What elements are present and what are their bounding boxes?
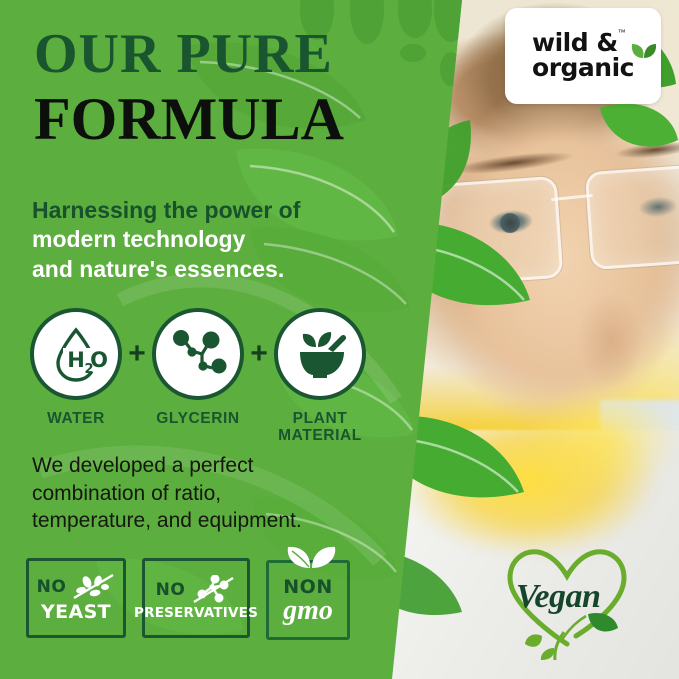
subtitle-line-1: Harnessing the power of [32,196,392,225]
subtitle-line-3: and nature's essences. [32,255,392,284]
headline-line-2: FORMULA [34,88,434,151]
paragraph-line-1: We developed a perfect [32,452,392,480]
molecule-icon [162,318,234,390]
paragraph-line-2: combination of ratio, [32,480,392,508]
headline-block: OUR PURE FORMULA [34,26,434,151]
ingredient-label-water: WATER [30,410,122,445]
ingredients-section: H 2 O + [30,308,380,445]
vegan-label: Vegan [516,578,600,616]
ingredient-label-plant-material: PLANT MATERIAL [274,410,366,445]
brand-logo[interactable]: wild & ™ organic [505,8,661,104]
subtitle-line-2: modern technology [32,225,392,254]
no-yeast-prefix: NO [37,577,67,597]
ingredient-label-glycerin: GLYCERIN [152,410,244,445]
paragraph-line-3: temperature, and equipment. [32,507,392,535]
leaves-icon [280,542,340,572]
leaf-icon [630,40,656,60]
headline-line-1: OUR PURE [34,26,434,82]
promotional-banner: OUR PURE FORMULA Harnessing the power of… [0,0,679,679]
subtitle-block: Harnessing the power of modern technolog… [32,196,392,284]
crossed-out-molecule-icon [190,575,236,605]
certification-badges: NO YEAST [26,558,366,640]
trademark-symbol: ™ [618,28,626,37]
description-paragraph: We developed a perfect combination of ra… [32,452,392,535]
no-yeast-label: YEAST [41,601,111,623]
water-icon-circle: H 2 O [30,308,122,400]
water-drop-icon: H 2 O [41,319,111,389]
crossed-out-yeast-icon [71,573,115,601]
logo-line-2: organic [532,53,634,82]
vegan-badge: Vegan [492,540,642,660]
no-preservatives-prefix: NO [156,580,186,600]
mortar-pestle-icon [285,319,355,389]
plant-material-icon-circle [274,308,366,400]
no-preservatives-label: PRESERVATIVES [134,605,258,621]
no-yeast-badge: NO YEAST [26,558,126,638]
no-preservatives-badge: NO [142,558,250,638]
non-gmo-label: gmo [283,598,333,623]
plus-separator-2: + [245,339,273,369]
plus-separator-1: + [123,339,151,369]
non-gmo-badge: NON gmo [266,542,350,640]
svg-text:O: O [90,348,108,372]
glycerin-icon-circle [152,308,244,400]
svg-text:H: H [67,348,85,372]
